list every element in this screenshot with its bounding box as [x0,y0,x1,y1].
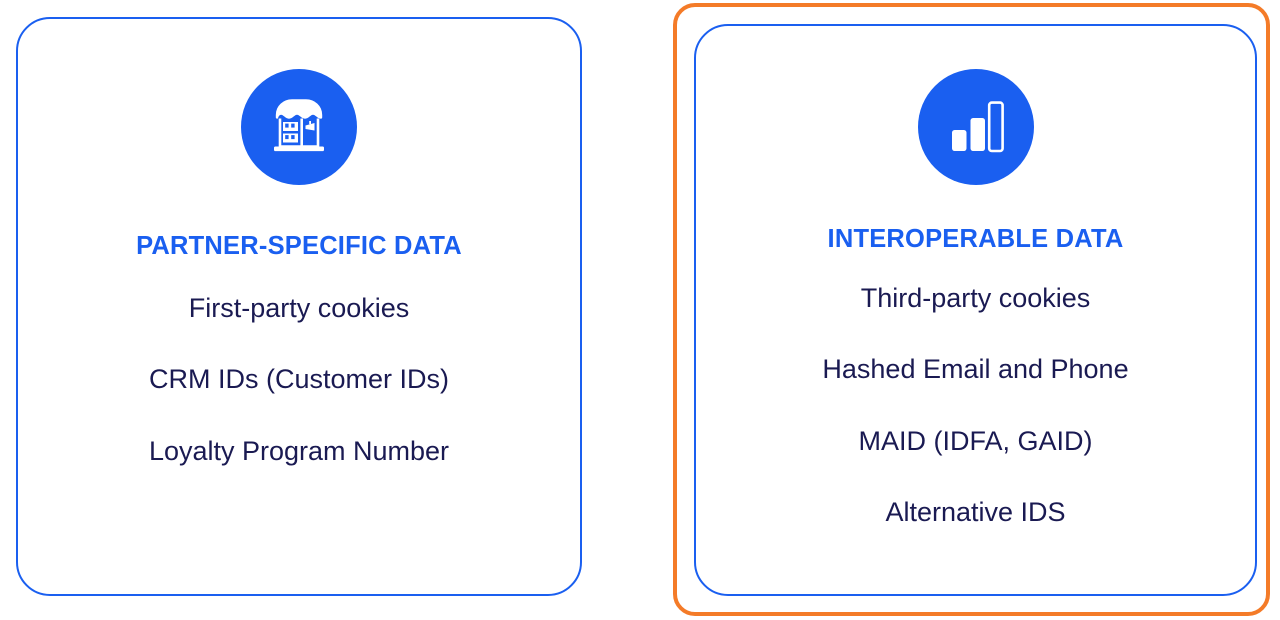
storefront-icon-badge [241,69,357,185]
data-type-list: First-party cookies CRM IDs (Customer ID… [18,292,580,467]
list-item: CRM IDs (Customer IDs) [18,363,580,395]
card-content: PARTNER-SPECIFIC DATA First-party cookie… [18,19,580,467]
card-content: INTEROPERABLE DATA Third-party cookies H… [696,26,1255,529]
list-item: MAID (IDFA, GAID) [696,425,1255,457]
data-type-list: Third-party cookies Hashed Email and Pho… [696,282,1255,529]
list-item: Loyalty Program Number [18,435,580,467]
bar-chart-icon [946,97,1006,157]
list-item: Third-party cookies [696,282,1255,314]
list-item: First-party cookies [18,292,580,324]
diagram-canvas: PARTNER-SPECIFIC DATA First-party cookie… [0,0,1280,620]
card-title: INTEROPERABLE DATA [828,225,1124,254]
card-interoperable-data[interactable]: INTEROPERABLE DATA Third-party cookies H… [694,24,1257,596]
storefront-icon [268,98,330,156]
card-partner-specific-data[interactable]: PARTNER-SPECIFIC DATA First-party cookie… [16,17,582,596]
list-item: Alternative IDS [696,496,1255,528]
list-item: Hashed Email and Phone [696,353,1255,385]
card-title: PARTNER-SPECIFIC DATA [136,232,462,261]
bar-chart-icon-badge [918,69,1034,185]
